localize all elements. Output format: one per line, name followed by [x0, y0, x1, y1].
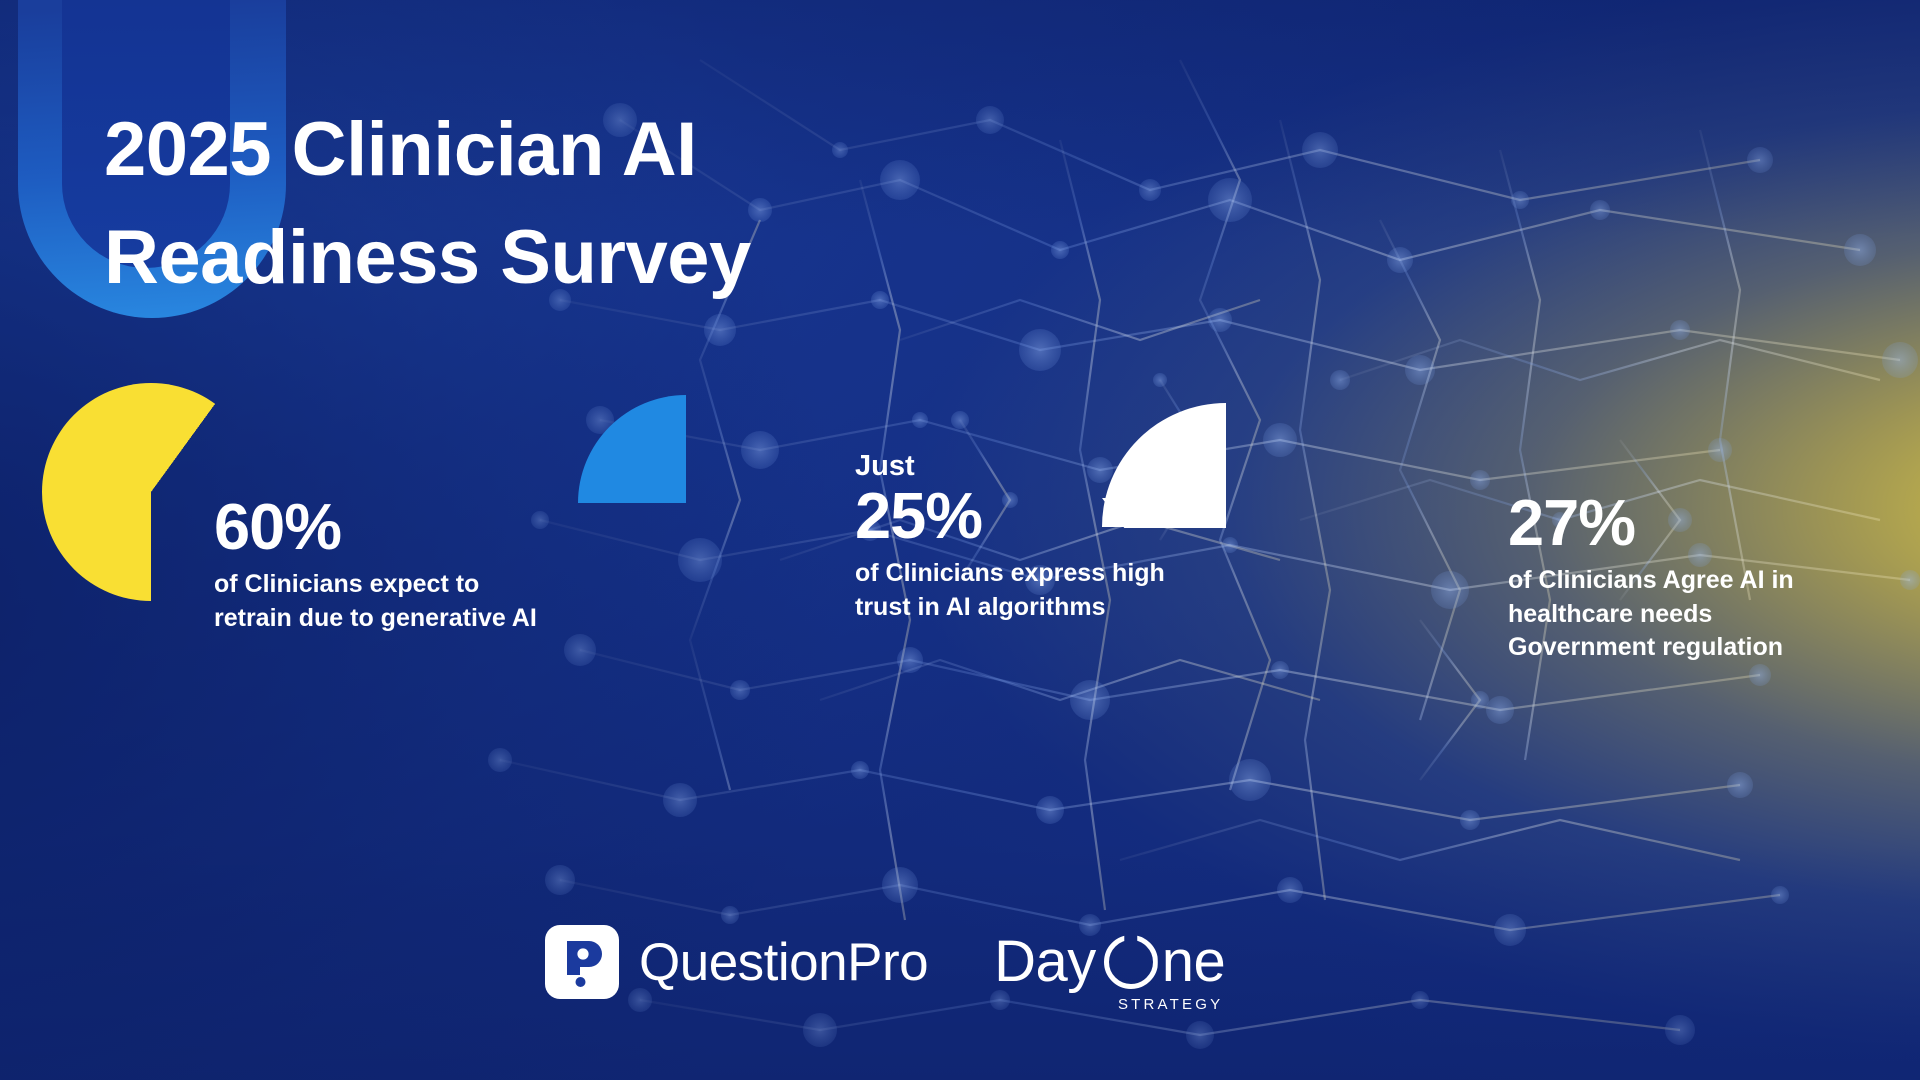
questionpro-badge-icon	[545, 925, 619, 999]
questionpro-logo: QuestionPro	[545, 925, 928, 999]
stat-block-1: 60% of Clinicians expect to retrain due …	[214, 494, 644, 635]
stat-block-3: 27% of Clinicians Agree AI in healthcare…	[1508, 490, 1868, 665]
dayone-logo: Day ne STRATEGY	[994, 933, 1225, 991]
stat-3-description: of Clinicians Agree AI in healthcare nee…	[1508, 564, 1868, 665]
stat-3-number: 27%	[1508, 490, 1868, 556]
dayone-ne-text: ne	[1162, 933, 1226, 991]
questionpro-wordmark: QuestionPro	[639, 936, 928, 989]
dayone-day-text: Day	[994, 933, 1096, 991]
dayone-wordmark: Day ne	[994, 933, 1225, 991]
stat-1-number: 60%	[214, 494, 644, 560]
dayone-o-ring-icon	[1104, 935, 1158, 989]
dayone-subtitle: STRATEGY	[1118, 996, 1223, 1013]
page-title: 2025 Clinician AI Readiness Survey	[104, 96, 1004, 312]
stat-2-description: of Clinicians express high trust in AI a…	[855, 557, 1255, 624]
stat-1-description: of Clinicians expect to retrain due to g…	[214, 568, 644, 635]
logo-row: QuestionPro Day ne STRATEGY	[545, 925, 1225, 999]
infographic-canvas: 2025 Clinician AI Readiness Survey 60% o…	[0, 0, 1920, 1080]
